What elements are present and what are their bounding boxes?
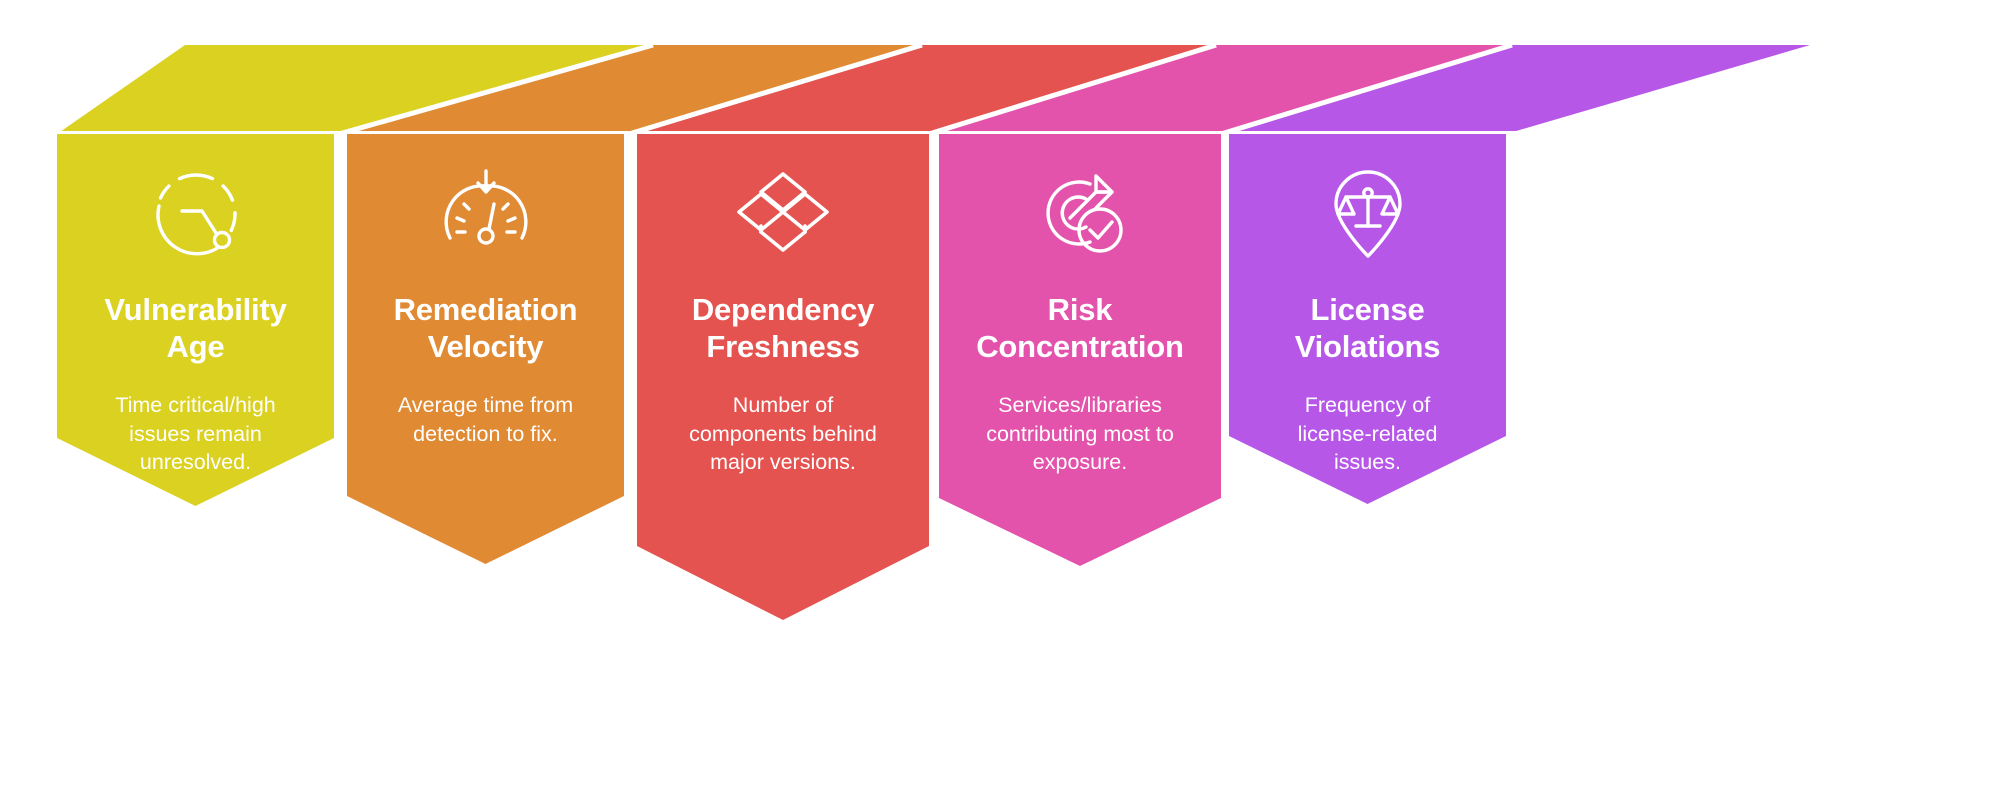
card-desc-remediation-velocity: Average time from detection to fix. <box>398 391 573 448</box>
dashed-clock-icon <box>140 162 252 266</box>
card-desc-vulnerability-age: Time critical/high issues remain unresol… <box>115 391 276 476</box>
card-title-license-violations: License Violations <box>1295 292 1441 365</box>
card-desc-dependency-freshness: Number of components behind major versio… <box>689 391 877 476</box>
card-title-remediation-velocity: Remediation Velocity <box>394 292 578 365</box>
card-desc-risk-concentration: Services/libraries contributing most to … <box>986 391 1174 476</box>
infographic-canvas: Vulnerability Age Time critical/high iss… <box>0 0 1999 797</box>
card-title-vulnerability-age: Vulnerability Age <box>104 292 286 365</box>
pennant-card-list: Vulnerability Age Time critical/high iss… <box>0 0 1999 797</box>
card-dependency-freshness[interactable]: Dependency Freshness Number of component… <box>637 134 929 620</box>
target-arrow-check-icon <box>1024 162 1136 266</box>
speedometer-icon <box>430 162 542 266</box>
location-pin-scales-icon <box>1312 162 1424 266</box>
card-desc-license-violations: Frequency of license-related issues. <box>1298 391 1438 476</box>
card-title-dependency-freshness: Dependency Freshness <box>692 292 874 365</box>
card-remediation-velocity[interactable]: Remediation Velocity Average time from d… <box>347 134 624 564</box>
card-title-risk-concentration: Risk Concentration <box>976 292 1184 365</box>
card-risk-concentration[interactable]: Risk Concentration Services/libraries co… <box>939 134 1221 566</box>
stacked-layers-box-icon <box>727 162 839 266</box>
card-license-violations[interactable]: License Violations Frequency of license-… <box>1229 134 1506 504</box>
card-vulnerability-age[interactable]: Vulnerability Age Time critical/high iss… <box>57 134 334 506</box>
